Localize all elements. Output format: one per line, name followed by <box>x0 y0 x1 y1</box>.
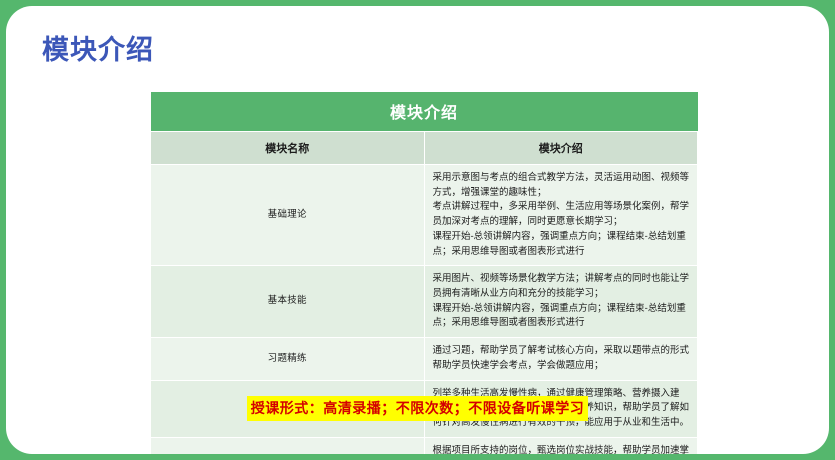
cell-module-name: 岗位实战技能 <box>151 437 425 454</box>
cell-module-name: 习题精练 <box>151 338 425 380</box>
slide-card: 模块介绍 师路教育 模块介绍 模块名称 模块介绍 基础理论采用示意图与考点的组合… <box>6 6 829 454</box>
cell-module-intro: 采用图片、视频等场景化教学方法；讲解考点的同时也能让学员拥有清晰从业方向和充分的… <box>424 266 698 338</box>
table-row: 习题精练通过习题，帮助学员了解考试核心方向，采取以题带点的形式帮助学员快速学会考… <box>151 338 698 380</box>
table-row: 基本技能采用图片、视频等场景化教学方法；讲解考点的同时也能让学员拥有清晰从业方向… <box>151 266 698 338</box>
column-header-module-name: 模块名称 <box>151 132 425 165</box>
cell-intro-line: 采用图片、视频等场景化教学方法；讲解考点的同时也能让学员拥有清晰从业方向和充分的… <box>433 272 691 301</box>
cell-module-name: 基本技能 <box>151 266 425 338</box>
footer-note: 授课形式：高清录播；不限次数；不限设备听课学习 <box>6 396 829 421</box>
cell-module-intro: 根据项目所支持的岗位，甄选岗位实战技能，帮助学员加速掌握从业实战技能，从而收获岗… <box>424 437 698 454</box>
column-header-module-intro: 模块介绍 <box>424 132 698 165</box>
cell-intro-line: 采用示意图与考点的组合式教学方法，灵活运用动图、视频等方式，增强课堂的趣味性； <box>433 171 691 200</box>
cell-module-intro: 采用示意图与考点的组合式教学方法，灵活运用动图、视频等方式，增强课堂的趣味性；考… <box>424 165 698 266</box>
page-title: 模块介绍 <box>42 28 154 67</box>
cell-intro-line: 课程开始-总领讲解内容，强调重点方向；课程结束-总结划重点；采用思维导图或者图表… <box>433 302 691 331</box>
cell-intro-line: 课程开始-总领讲解内容，强调重点方向；课程结束-总结划重点；采用思维导图或者图表… <box>433 230 691 259</box>
table-head: 模块介绍 模块名称 模块介绍 <box>151 92 698 165</box>
cell-module-name: 基础理论 <box>151 165 425 266</box>
cell-intro-line: 通过习题，帮助学员了解考试核心方向，采取以题带点的形式帮助学员快速学会考点，学会… <box>433 344 691 373</box>
cell-module-intro: 通过习题，帮助学员了解考试核心方向，采取以题带点的形式帮助学员快速学会考点，学会… <box>424 338 698 380</box>
table-row: 岗位实战技能根据项目所支持的岗位，甄选岗位实战技能，帮助学员加速掌握从业实战技能… <box>151 437 698 454</box>
table-column-header-row: 模块名称 模块介绍 <box>151 132 698 165</box>
table-title-row: 模块介绍 <box>151 92 698 132</box>
table-row: 基础理论采用示意图与考点的组合式教学方法，灵活运用动图、视频等方式，增强课堂的趣… <box>151 165 698 266</box>
cell-intro-line: 考点讲解过程中，多采用举例、生活应用等场景化案例，帮学员加深对考点的理解，同时更… <box>433 200 691 229</box>
cell-intro-line: 根据项目所支持的岗位，甄选岗位实战技能，帮助学员加速掌握从业实战技能，从而收获岗… <box>433 444 691 454</box>
footer-note-highlight: 授课形式：高清录播；不限次数；不限设备听课学习 <box>247 396 589 421</box>
table-caption: 模块介绍 <box>151 92 698 132</box>
